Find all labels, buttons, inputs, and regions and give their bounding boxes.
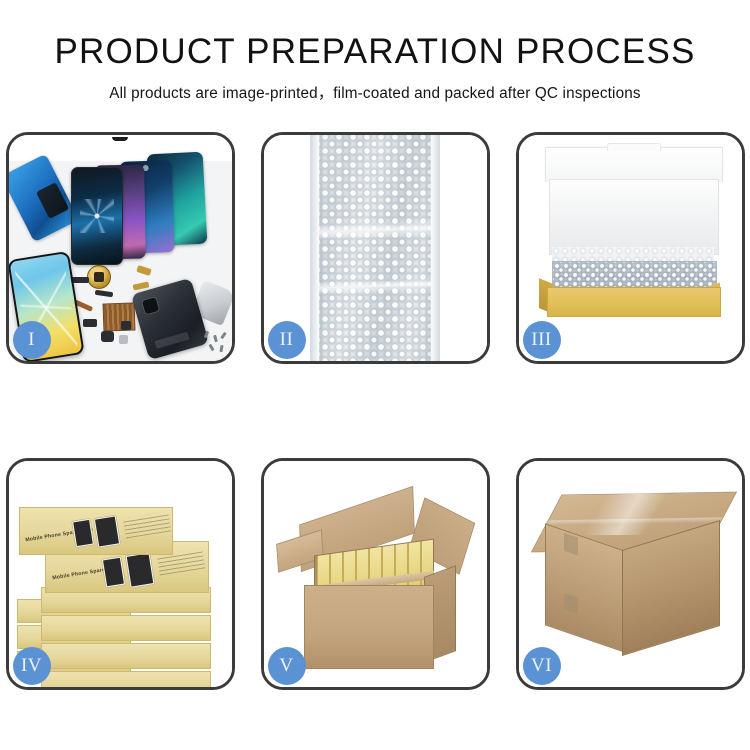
- step-badge: I: [13, 321, 51, 359]
- box-spec-lines: [122, 512, 171, 539]
- step-badge: V: [268, 647, 306, 685]
- box-screen-print: [125, 552, 154, 587]
- carton-front-panel-icon: [304, 585, 434, 669]
- step-badge: IV: [13, 647, 51, 685]
- kraft-box-slab: [41, 643, 211, 669]
- small-part-icon: [101, 331, 114, 342]
- page-header: PRODUCT PREPARATION PROCESS All products…: [0, 0, 750, 103]
- speaker-coil-icon: [87, 265, 111, 289]
- box-screen-print: [93, 515, 119, 547]
- step-badge: VI: [523, 647, 561, 685]
- kraft-box-front-icon: [547, 287, 721, 317]
- box-screen-print: [72, 519, 94, 547]
- small-part-icon: [121, 321, 131, 330]
- box-back-wall-icon: [549, 179, 719, 255]
- kraft-box-printed: Mobile Phone Spare Parts: [19, 507, 173, 555]
- process-step-panel-4[interactable]: Mobile Phone Spare Parts Mobile Phone Sp…: [6, 458, 235, 690]
- box-lid-icon: [545, 147, 723, 182]
- process-step-panel-2[interactable]: II: [261, 132, 490, 364]
- process-step-panel-6[interactable]: VI: [516, 458, 745, 690]
- small-part-icon: [119, 335, 128, 344]
- process-step-panel-1[interactable]: I: [6, 132, 235, 364]
- process-step-grid: I II III: [0, 132, 750, 690]
- process-step-panel-3[interactable]: III: [516, 132, 745, 364]
- step-badge: II: [268, 321, 306, 359]
- page-subtitle: All products are image-printed，film-coat…: [0, 81, 750, 103]
- bubble-wrap-edge: [430, 135, 440, 361]
- kraft-box-slab: [41, 615, 211, 641]
- step-badge: III: [523, 321, 561, 359]
- bubble-wrap-icon: [319, 135, 431, 361]
- kraft-box-slab: [41, 671, 211, 687]
- box-screen-print: [101, 557, 124, 588]
- small-part-icon: [83, 319, 97, 327]
- bubble-wrap-edge: [310, 135, 320, 361]
- bubble-wrap-sheen: [319, 220, 431, 240]
- bubble-wrap-sheen: [319, 278, 431, 294]
- process-step-panel-5[interactable]: V: [261, 458, 490, 690]
- phone-dark-wallpaper-icon: [71, 167, 123, 265]
- screws-icon: [205, 331, 231, 353]
- page-title: PRODUCT PREPARATION PROCESS: [0, 34, 750, 71]
